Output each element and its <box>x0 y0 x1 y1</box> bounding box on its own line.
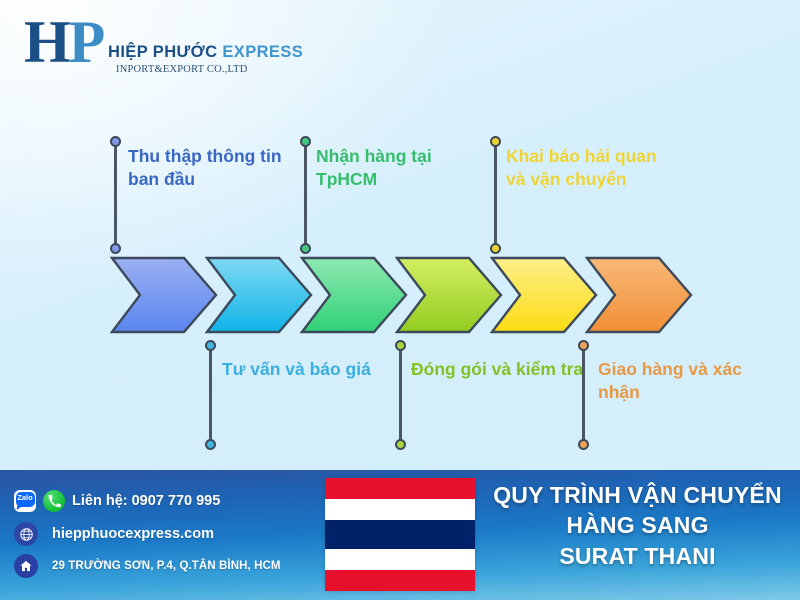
process-chevron-3 <box>300 256 408 334</box>
headline-line-1: QUY TRÌNH VẬN CHUYỂN <box>480 480 795 510</box>
infographic-canvas: HP HIỆP PHƯỚC EXPRESS INPORT&EXPORT CO.,… <box>0 0 800 600</box>
connector-dot-top <box>110 136 121 147</box>
step-label-3: Nhận hàng tại TpHCM <box>316 145 491 192</box>
step-connector-5 <box>490 136 501 254</box>
logo-monogram-h: H <box>24 9 69 75</box>
connector-dot-bottom <box>490 243 501 254</box>
globe-icon[interactable] <box>14 522 38 546</box>
connector-dot-top <box>578 340 589 351</box>
connector-dot-bottom <box>110 243 121 254</box>
connector-line <box>114 141 117 249</box>
process-chevron-4 <box>395 256 503 334</box>
connector-dot-bottom <box>395 439 406 450</box>
connector-line <box>209 345 212 445</box>
flag-stripe <box>325 499 475 520</box>
flag-stripe <box>325 570 475 591</box>
zalo-icon[interactable]: Zalo <box>14 490 36 512</box>
connector-line <box>304 141 307 249</box>
step-connector-2 <box>205 340 216 450</box>
flag-stripe <box>325 478 475 499</box>
contact-address-row[interactable]: 29 TRƯỜNG SƠN, P.4, Q.TÂN BÌNH, HCM <box>14 554 281 578</box>
connector-dot-top <box>490 136 501 147</box>
connector-line <box>582 345 585 445</box>
process-chevron-2 <box>205 256 313 334</box>
process-chevron-1 <box>110 256 218 334</box>
logo-company-name: HIỆP PHƯỚC EXPRESS <box>108 43 303 62</box>
logo-name-main: HIỆP PHƯỚC <box>108 43 222 61</box>
headline-line-2: HÀNG SANG <box>480 510 795 540</box>
connector-dot-bottom <box>300 243 311 254</box>
step-connector-6 <box>578 340 589 450</box>
phone-icon[interactable] <box>43 490 65 512</box>
contact-phone-row[interactable]: Zalo Liên hệ: 0907 770 995 <box>14 490 220 512</box>
connector-dot-bottom <box>578 439 589 450</box>
process-chevron-6 <box>585 256 693 334</box>
step-connector-3 <box>300 136 311 254</box>
connector-dot-bottom <box>205 439 216 450</box>
connector-dot-top <box>205 340 216 351</box>
step-connector-4 <box>395 340 406 450</box>
step-label-4: Đóng gói và kiểm tra <box>411 358 586 381</box>
thailand-flag <box>325 478 475 591</box>
connector-dot-top <box>395 340 406 351</box>
headline-line-3: SURAT THANI <box>480 541 795 571</box>
flag-stripe <box>325 520 475 549</box>
connector-dot-top <box>300 136 311 147</box>
connector-line <box>494 141 497 249</box>
step-connector-1 <box>110 136 121 254</box>
home-icon[interactable] <box>14 554 38 578</box>
step-label-1: Thu thập thông tin ban đầu <box>128 145 303 192</box>
contact-website-text: hiepphuocexpress.com <box>52 526 214 542</box>
zalo-icon-label: Zalo <box>14 493 36 502</box>
logo-subtitle: INPORT&EXPORT CO.,LTD <box>116 64 248 75</box>
contact-address-text: 29 TRƯỜNG SƠN, P.4, Q.TÂN BÌNH, HCM <box>52 560 281 572</box>
contact-website-row[interactable]: hiepphuocexpress.com <box>14 522 214 546</box>
step-label-5: Khai báo hải quan và vận chuyển <box>506 145 681 192</box>
logo-monogram-p: P <box>69 9 104 75</box>
step-label-6: Giao hàng và xác nhận <box>598 358 778 405</box>
company-logo: HP HIỆP PHƯỚC EXPRESS INPORT&EXPORT CO.,… <box>24 12 274 78</box>
contact-phone-text: Liên hệ: 0907 770 995 <box>72 493 220 509</box>
process-chevron-5 <box>490 256 598 334</box>
flag-stripe <box>325 549 475 570</box>
logo-name-accent: EXPRESS <box>222 43 303 61</box>
step-label-2: Tư vấn và báo giá <box>222 358 397 381</box>
connector-line <box>399 345 402 445</box>
logo-monogram: HP <box>24 12 103 72</box>
footer-headline: QUY TRÌNH VẬN CHUYỂNHÀNG SANGSURAT THANI <box>480 480 795 571</box>
